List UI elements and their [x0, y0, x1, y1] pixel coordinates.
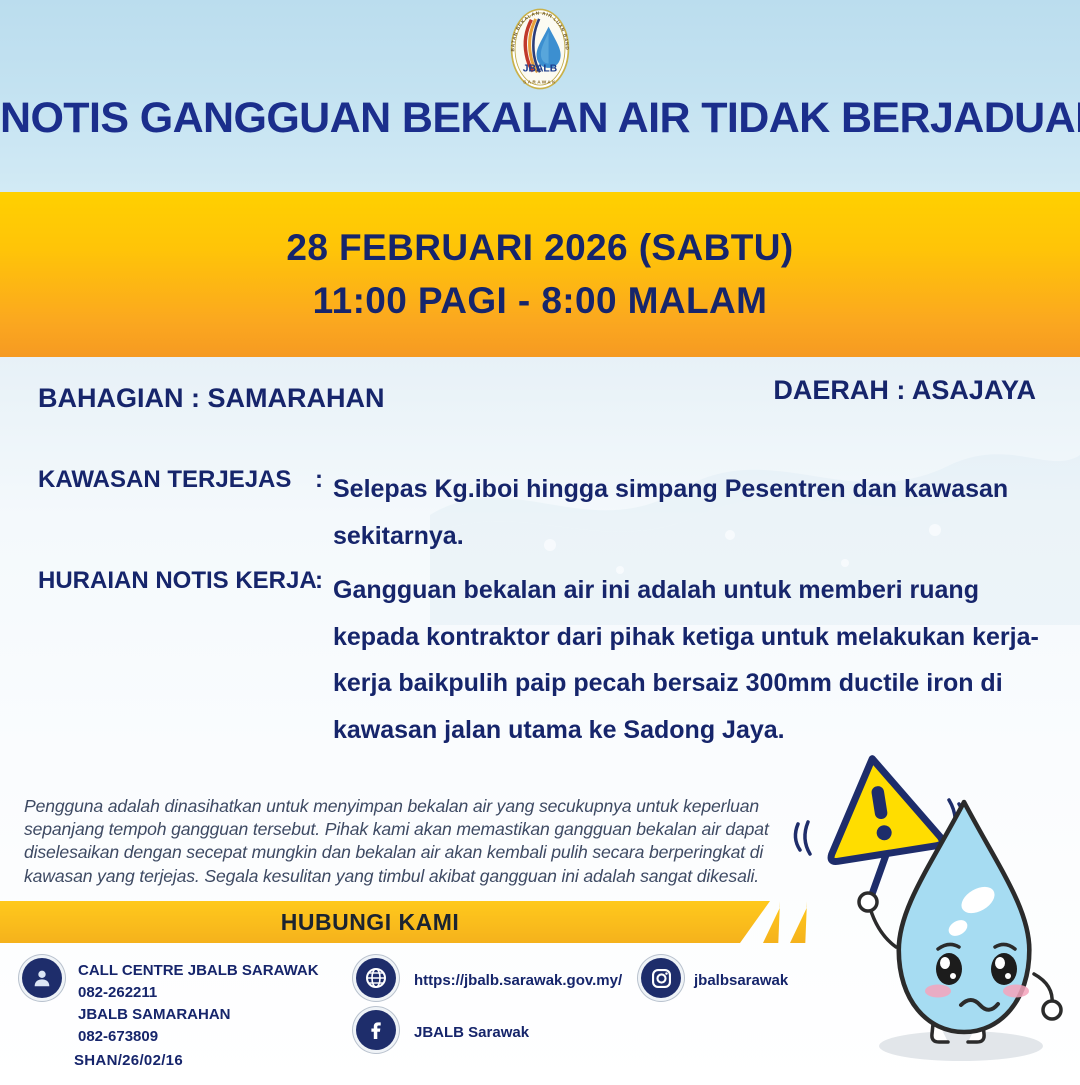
- affected-area-label: KAWASAN TERJEJAS: [38, 466, 310, 494]
- water-droplet-mascot: [786, 742, 1080, 1078]
- facebook-contact-text[interactable]: JBALB Sarawak: [414, 1022, 529, 1044]
- disclaimer-text: Pengguna adalah dinasihatkan untuk menyi…: [24, 795, 769, 888]
- phone-contact-text: CALL CENTRE JBALB SARAWAK 082-262211 JBA…: [78, 960, 319, 1048]
- notice-date: 28 FEBRUARI 2026 (SABTU): [286, 222, 793, 275]
- notice-time: 11:00 PAGI - 8:00 MALAM: [313, 275, 768, 328]
- phone-contact-icon: [22, 958, 62, 998]
- notice-poster: JBALB SARAWAK JABATAN BEKALAN AIR LUAR B…: [0, 0, 1080, 1085]
- instagram-contact-text[interactable]: jbalbsarawak: [694, 970, 788, 992]
- instagram-contact-icon[interactable]: [641, 958, 681, 998]
- svg-text:JBALB: JBALB: [523, 63, 557, 74]
- district-label: DAERAH : ASAJAYA: [773, 375, 1036, 406]
- website-contact-icon[interactable]: [356, 958, 396, 998]
- region-row: BAHAGIAN : SAMARAHAN DAERAH : ASAJAYA: [0, 383, 1080, 429]
- work-description-label: HURAIAN NOTIS KERJA: [38, 567, 310, 595]
- division-label: BAHAGIAN : SAMARAHAN: [38, 383, 384, 414]
- page-title: NOTIS GANGGUAN BEKALAN AIR TIDAK BERJADU…: [0, 94, 1080, 143]
- notice-details: KAWASAN TERJEJAS : Selepas Kg.iboi hingg…: [0, 466, 1080, 753]
- affected-area-row: KAWASAN TERJEJAS : Selepas Kg.iboi hingg…: [0, 466, 1080, 559]
- jbalb-logo-icon: JBALB SARAWAK JABATAN BEKALAN AIR LUAR B…: [497, 6, 583, 92]
- work-description-value: Gangguan bekalan air ini adalah untuk me…: [333, 567, 1048, 753]
- reference-code: SHAN/26/02/16: [74, 1052, 183, 1069]
- user-icon: [31, 967, 53, 989]
- work-description-colon: :: [315, 567, 323, 595]
- contact-banner-title: HUBUNGI KAMI: [0, 909, 740, 936]
- work-description-row: HURAIAN NOTIS KERJA : Gangguan bekalan a…: [0, 567, 1080, 753]
- website-contact-text[interactable]: https://jbalb.sarawak.gov.my/: [414, 970, 622, 992]
- poster-header: JBALB SARAWAK JABATAN BEKALAN AIR LUAR B…: [0, 0, 1080, 192]
- date-time-banner: 28 FEBRUARI 2026 (SABTU) 11:00 PAGI - 8:…: [0, 192, 1080, 357]
- facebook-contact-icon[interactable]: [356, 1010, 396, 1050]
- instagram-icon: [650, 967, 673, 990]
- svg-text:SARAWAK: SARAWAK: [523, 79, 557, 85]
- globe-icon: [364, 966, 388, 990]
- affected-area-value: Selepas Kg.iboi hingga simpang Pesentren…: [333, 466, 1048, 559]
- contact-banner: HUBUNGI KAMI: [0, 901, 790, 943]
- affected-area-colon: :: [315, 466, 323, 494]
- facebook-icon: [364, 1018, 388, 1042]
- banner-stripe-1: [763, 901, 780, 943]
